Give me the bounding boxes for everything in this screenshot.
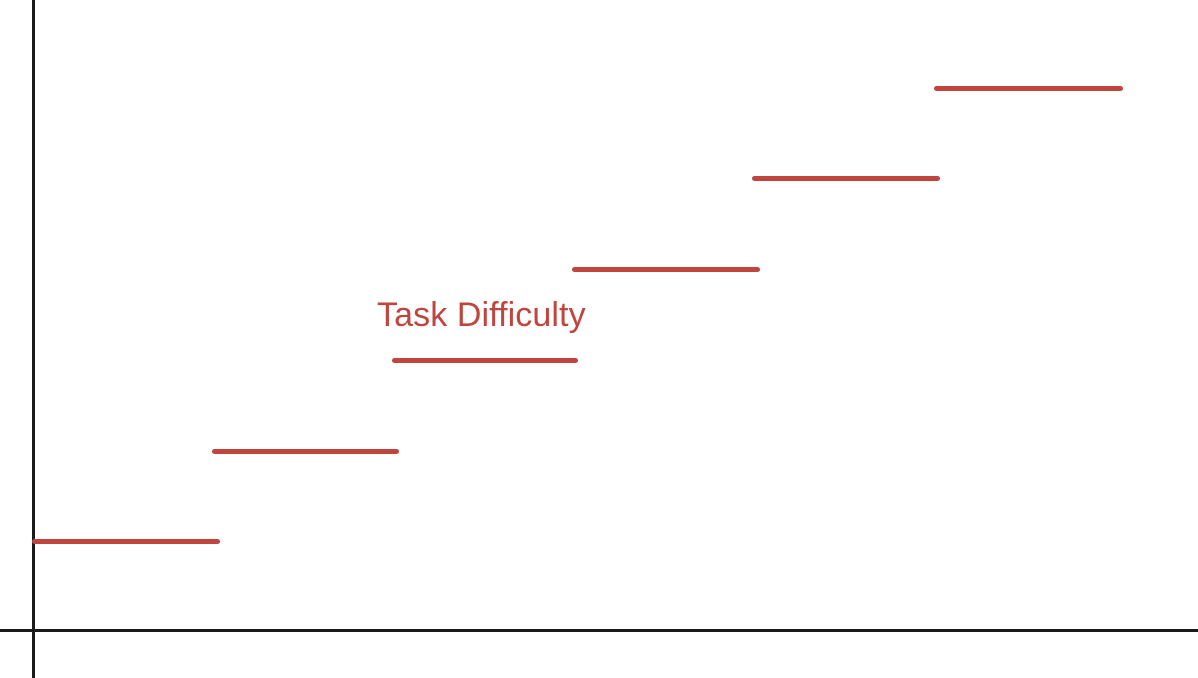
step-segment-4 [572,267,760,272]
x-axis-line [0,629,1198,632]
step-segment-1 [32,539,220,544]
chart-title: Task Difficulty [377,298,586,332]
step-segment-2 [212,449,399,454]
step-segment-6 [934,86,1123,91]
chart-canvas: Task Difficulty [0,0,1198,678]
y-axis-line [32,0,35,678]
step-segment-3 [392,358,578,363]
step-segment-5 [752,176,940,181]
